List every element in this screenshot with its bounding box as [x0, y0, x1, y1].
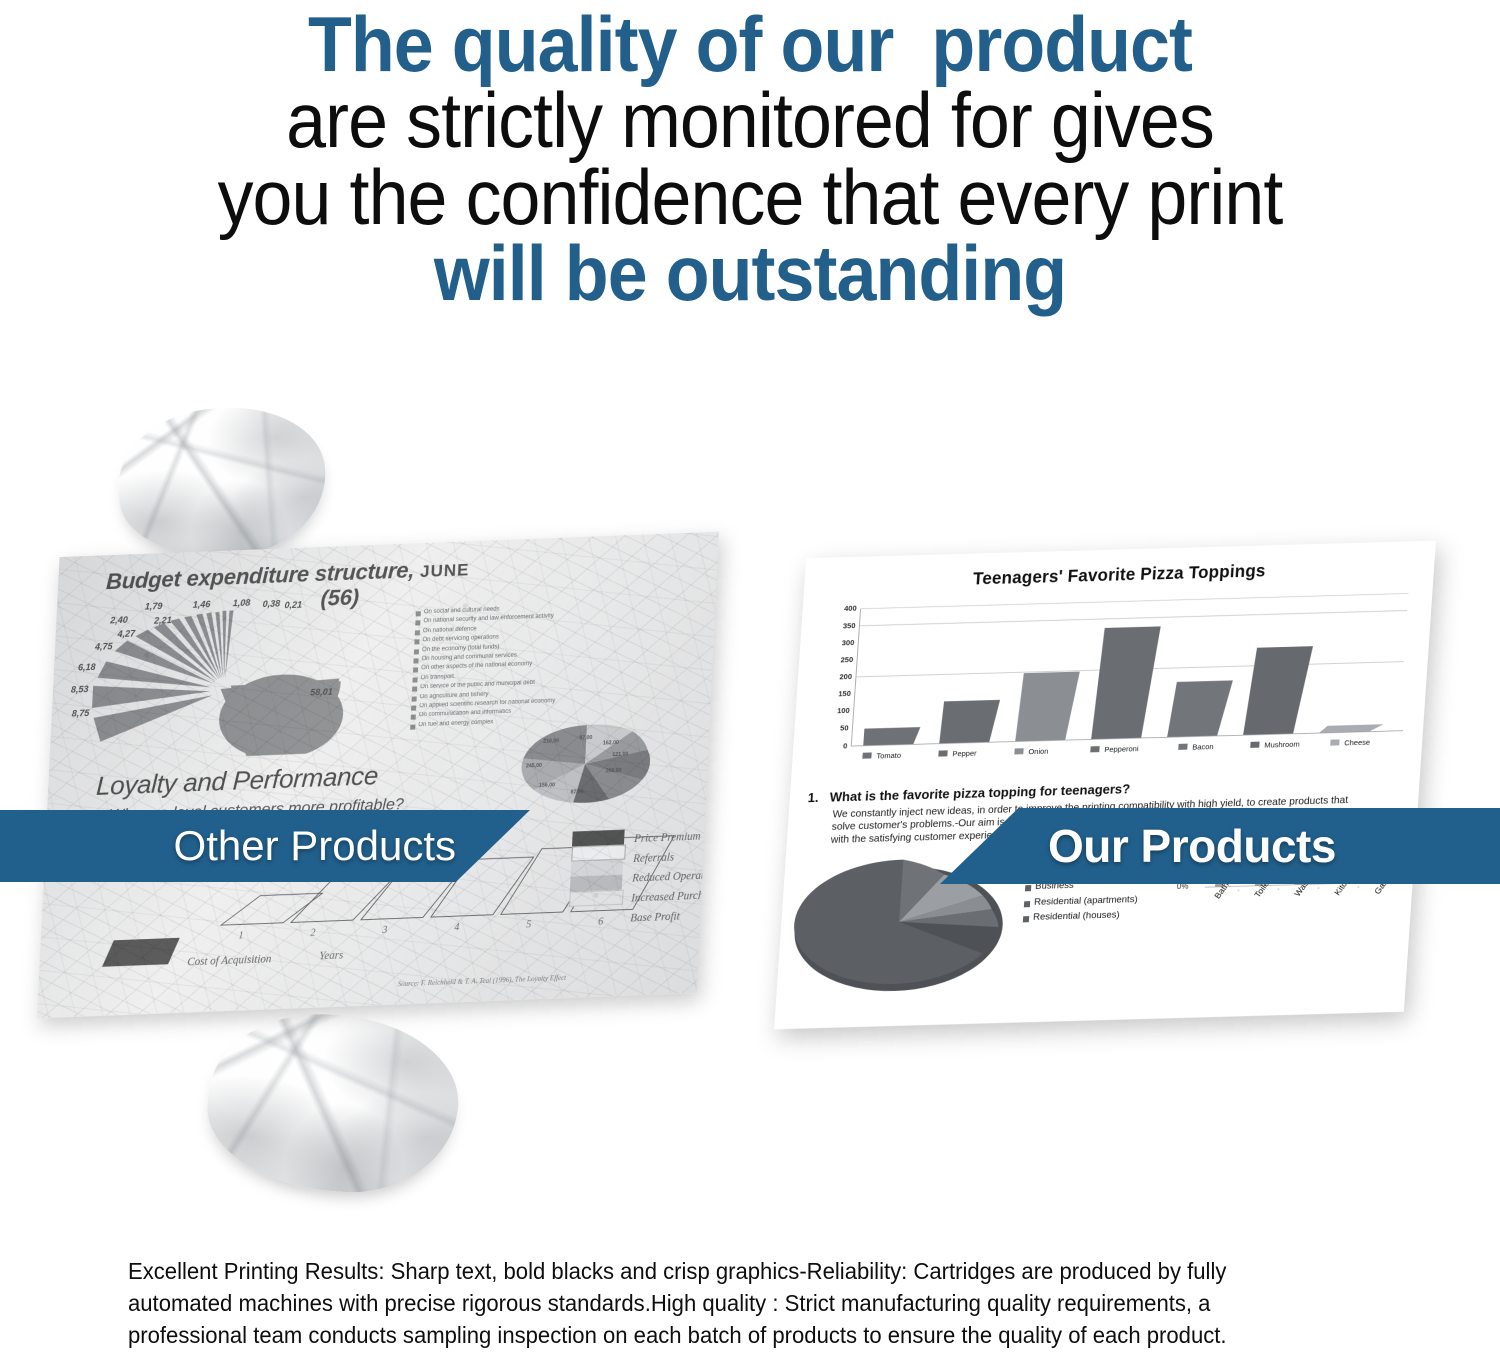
mini-pie-svg: 97,00 162,00 121,00 208,00 87,00 156,00 …	[518, 722, 652, 805]
cost-of-acquisition-swatch	[102, 938, 180, 967]
benefit-label-4: Base Profit	[630, 907, 719, 925]
legend-swatch	[412, 677, 417, 682]
pie-label-0: 8,75	[72, 708, 90, 719]
svg-text:50: 50	[840, 723, 849, 732]
mini-pie-chart: 97,00 162,00 121,00 208,00 87,00 156,00 …	[518, 722, 652, 805]
headline-line-3: you the confidence that every print	[60, 159, 1440, 235]
legend-swatch	[413, 668, 418, 673]
svg-text:Mushroom: Mushroom	[1264, 740, 1300, 750]
other-products-document: Budget expenditure structure, JUNE (56)	[37, 532, 719, 1019]
legend-swatch	[414, 649, 419, 654]
pizza-toppings-bar-chart: 400 350 300 250 200 150 100 50 0	[805, 585, 1417, 782]
svg-text:Cheese: Cheese	[1344, 738, 1370, 748]
svg-text:210,00: 210,00	[543, 738, 559, 745]
legend-swatch	[415, 621, 420, 626]
legend-label: On the economy (total funds)	[422, 644, 500, 653]
svg-text:156,00: 156,00	[539, 782, 555, 789]
svg-text:245,00: 245,00	[526, 763, 542, 770]
stair-year-5: 5	[526, 919, 532, 930]
pie-label-4: 4,27	[117, 628, 135, 639]
pie-label-10: 0,38	[262, 599, 280, 610]
usage-pie-legend: Business Residential (apartments) Reside…	[1022, 878, 1175, 929]
our-products-banner-label: Our Products	[940, 819, 1336, 873]
pie-label-3: 4,75	[95, 641, 113, 652]
legend-label: On national defence	[423, 626, 477, 634]
legend-item: Residential (apartments)	[1024, 894, 1175, 909]
svg-text:Bacon: Bacon	[1192, 742, 1214, 752]
stair-year-1: 1	[238, 930, 244, 941]
svg-text:87,00: 87,00	[570, 789, 583, 796]
svg-text:Onion: Onion	[1028, 747, 1049, 757]
our-products-banner: Our Products	[940, 808, 1500, 884]
svg-text:Pepperoni: Pepperoni	[1104, 744, 1139, 754]
documents-stage: Budget expenditure structure, JUNE (56)	[0, 390, 1500, 1230]
crumpled-paper-ball-top	[111, 398, 333, 567]
stair-source-note: Source: F. Reichheld & T. A. Teal (1996)…	[397, 974, 566, 988]
pie-label-7: 1,79	[145, 601, 163, 612]
svg-text:350: 350	[843, 621, 856, 630]
legend-swatch	[413, 658, 418, 663]
legend-label: On communication and informatics	[419, 709, 512, 719]
legend-swatch	[1025, 885, 1031, 891]
legend-item: Residential (houses)	[1023, 909, 1174, 924]
pizza-question-text: What is the favorite pizza topping for t…	[829, 781, 1130, 804]
legend-label: On transport	[420, 674, 454, 682]
other-products-banner: Other Products	[0, 810, 530, 882]
loyalty-section-title: Loyalty and Performance	[95, 760, 378, 802]
legend-label: On social and cultural needs	[424, 606, 500, 615]
pie-label-5: 2,40	[110, 614, 128, 625]
pie-label-11: 0,21	[284, 600, 302, 611]
benefit-swatch-4	[569, 890, 624, 907]
svg-text:200: 200	[839, 672, 852, 681]
pie-label-1: 8,53	[71, 684, 89, 695]
pizza-question-number: 1.	[807, 790, 830, 806]
budget-pie-chart: 8,75 8,53 6,18 4,75 4,27 2,40 2,21 1,79 …	[67, 600, 404, 763]
pie-label-6: 2,21	[154, 615, 172, 626]
headline-block: The quality of our product are strictly …	[0, 2, 1500, 312]
headline-line-1: The quality of our product	[60, 2, 1440, 82]
pie-label-2: 6,18	[78, 662, 96, 673]
benefit-label-2: Reduced Operating Costs	[632, 867, 719, 885]
legend-swatch	[410, 724, 415, 729]
legend-swatch	[415, 630, 420, 635]
legend-swatch	[412, 696, 417, 701]
svg-text:162,00: 162,00	[603, 740, 619, 747]
our-products-document: Teenagers' Favorite Pizza Toppings 400 3…	[774, 541, 1436, 1030]
legend-swatch	[1023, 916, 1029, 922]
legend-label: On housing and communal services	[421, 653, 517, 663]
legend-label: On debt servicing operations	[422, 634, 499, 643]
legend-label: On other aspects of the national economy	[421, 661, 532, 672]
svg-text:121,00: 121,00	[612, 751, 628, 758]
stair-year-6: 6	[598, 916, 604, 927]
legend-label: Residential (apartments)	[1034, 895, 1138, 909]
stair-year-2: 2	[310, 928, 316, 939]
headline-line-2: are strictly monitored for gives	[60, 82, 1440, 158]
cost-of-acquisition-label: Cost of Acquisition	[187, 953, 272, 968]
legend-swatch	[411, 715, 416, 720]
svg-text:Pepper: Pepper	[952, 749, 977, 759]
headline-line-4: will be outstanding	[60, 235, 1440, 311]
svg-text:250: 250	[840, 655, 853, 664]
stair-axis-label: Years	[319, 949, 344, 962]
legend-swatch	[411, 705, 416, 710]
svg-text:208,00: 208,00	[605, 768, 621, 775]
pizza-bar-svg: 400 350 300 250 200 150 100 50 0	[805, 585, 1417, 782]
benefit-label-3: Increased Purchases	[631, 887, 719, 905]
legend-label: On fuel and energy complex	[418, 719, 493, 728]
benefit-label-1: Referrals	[633, 848, 719, 866]
benefit-labels: Price Premium Referrals Reduced Operatin…	[630, 828, 719, 932]
pie-label-main: 58,01	[310, 687, 333, 698]
legend-swatch	[416, 611, 421, 616]
benefit-swatches	[569, 830, 625, 907]
left-chart-title-month: JUNE	[420, 560, 470, 581]
pie-label-9: 1,08	[233, 598, 251, 609]
svg-text:150: 150	[838, 689, 851, 698]
footer-description: Excellent Printing Results: Sharp text, …	[128, 1255, 1326, 1352]
svg-text:300: 300	[842, 638, 855, 647]
svg-text:Tomato: Tomato	[876, 751, 901, 761]
crumpled-paper-ball-bottom	[202, 1006, 464, 1199]
pie-label-8: 1,46	[193, 599, 211, 610]
usage-bar-axis-labels: 5% 0%	[1165, 943, 1405, 950]
budget-pie-legend: On social and cultural needs On national…	[410, 598, 706, 732]
legend-swatch	[412, 687, 417, 692]
legend-swatch	[1024, 901, 1030, 907]
svg-text:0: 0	[843, 741, 848, 750]
legend-label: Residential (houses)	[1033, 911, 1120, 924]
stair-year-4: 4	[454, 922, 460, 933]
legend-swatch	[414, 639, 419, 644]
legend-label: On agriculture and fishery	[420, 691, 489, 700]
stair-year-3: 3	[382, 925, 388, 936]
svg-text:97,00: 97,00	[579, 735, 592, 742]
svg-text:400: 400	[844, 604, 857, 613]
svg-text:100: 100	[837, 706, 850, 715]
